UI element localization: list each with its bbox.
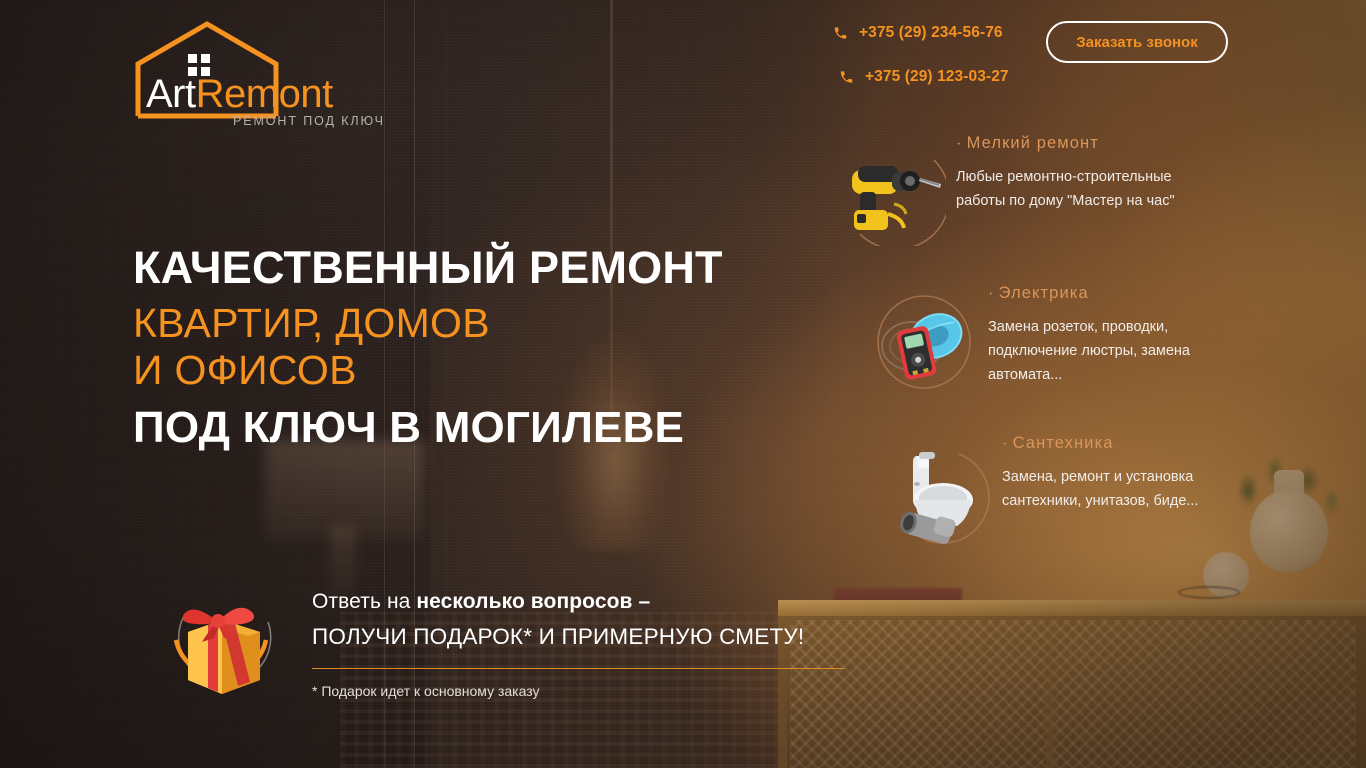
drill-icon xyxy=(838,138,946,246)
service-item-plumbing[interactable]: ·Сантехника Замена, ремонт и установка с… xyxy=(838,434,1258,552)
promo-line-2: ПОЛУЧИ ПОДАРОК* И ПРИМЕРНУЮ СМЕТУ! xyxy=(312,624,922,650)
service-title-text: Мелкий ремонт xyxy=(967,134,1099,152)
hero-line-2: КВАРТИР, ДОМОВ xyxy=(133,303,833,344)
service-description: Замена розеток, проводки, подключение лю… xyxy=(988,315,1250,387)
service-description: Любые ремонтно-строительные работы по до… xyxy=(956,165,1218,213)
gift-box-icon xyxy=(160,576,282,708)
promo-line-1-prefix: Ответь на xyxy=(312,590,416,613)
services-list: ·Мелкий ремонт Любые ремонтно-строительн… xyxy=(838,134,1258,584)
phone-icon xyxy=(833,25,848,41)
electrical-cable-multimeter-icon xyxy=(870,288,978,396)
promo-block: Ответь на несколько вопросов – ПОЛУЧИ ПО… xyxy=(160,572,920,732)
hero-line-3: И ОФИСОВ xyxy=(133,350,833,391)
service-item-electrical[interactable]: ·Электрика Замена розеток, проводки, под… xyxy=(838,284,1258,402)
hero-line-1: КАЧЕСТВЕННЫЙ РЕМОНТ xyxy=(133,245,833,290)
service-bullet: · xyxy=(1002,434,1009,452)
toilet-icon xyxy=(883,438,991,546)
service-title: ·Сантехника xyxy=(1002,434,1258,453)
promo-line-1: Ответь на несколько вопросов – xyxy=(312,590,922,614)
phone-number[interactable]: +375 (29) 123-03-27 xyxy=(865,68,1009,86)
service-bullet: · xyxy=(988,284,995,302)
logo-text-secondary: Remont xyxy=(196,72,333,116)
callback-button[interactable]: Заказать звонок xyxy=(1046,21,1228,63)
phone-row[interactable]: +375 (29) 234-56-76 xyxy=(833,18,1023,48)
service-bullet: · xyxy=(956,134,963,152)
promo-footnote: * Подарок идет к основному заказу xyxy=(312,683,922,699)
hero-heading: КАЧЕСТВЕННЫЙ РЕМОНТ КВАРТИР, ДОМОВ И ОФИ… xyxy=(133,245,833,450)
phone-row[interactable]: +375 (29) 123-03-27 xyxy=(833,62,1023,92)
header-contacts: +375 (29) 234-56-76 +375 (29) 123-03-27 xyxy=(833,18,1023,106)
service-title: ·Мелкий ремонт xyxy=(956,134,1258,153)
service-item-minor-repair[interactable]: ·Мелкий ремонт Любые ремонтно-строительн… xyxy=(838,134,1258,252)
hero-line-4: ПОД КЛЮЧ В МОГИЛЕВЕ xyxy=(133,406,833,450)
service-title-text: Электрика xyxy=(999,284,1089,302)
promo-divider xyxy=(312,668,844,669)
service-title: ·Электрика xyxy=(988,284,1258,303)
promo-text: Ответь на несколько вопросов – ПОЛУЧИ ПО… xyxy=(312,590,922,699)
phone-number[interactable]: +375 (29) 234-56-76 xyxy=(859,24,1003,42)
logo-tagline: РЕМОНТ ПОД КЛЮЧ xyxy=(233,114,385,128)
service-description: Замена, ремонт и установка сантехники, у… xyxy=(1002,465,1258,513)
phone-icon xyxy=(839,69,854,85)
promo-line-1-bold: несколько вопросов – xyxy=(416,590,650,613)
logo-text-primary: Art xyxy=(146,72,196,116)
site-logo[interactable]: ArtRemont РЕМОНТ ПОД КЛЮЧ xyxy=(133,18,391,123)
service-title-text: Сантехника xyxy=(1013,434,1114,452)
